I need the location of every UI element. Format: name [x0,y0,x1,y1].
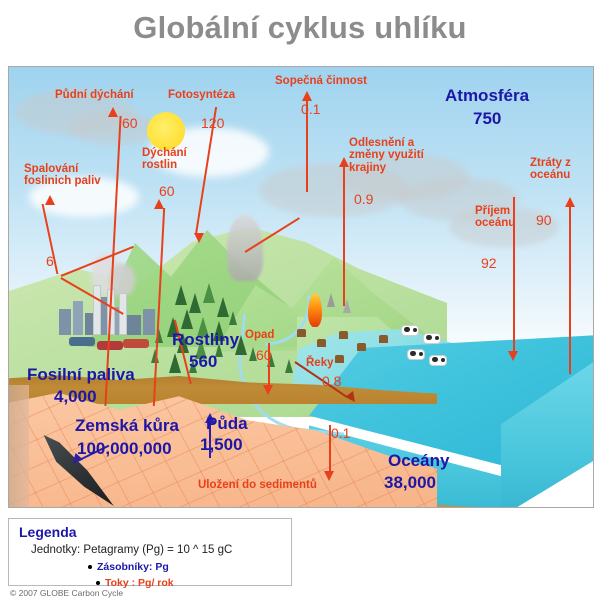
legend-entry-pools: Zásobníky: Pg [97,561,169,573]
wildfire-icon [308,293,322,327]
arrow-shaft [343,166,345,306]
label-pool-soil: Půda [206,415,248,433]
label-deforestation-line2: změny využití [349,149,424,161]
building-icon [73,301,83,335]
legend-box: Legenda Jednotky: Petagramy (Pg) = 10 ^ … [8,518,292,586]
label-deforestation-line1: Odlesnění a [349,137,424,149]
cow-icon [429,355,447,366]
value-plant-respiration: 60 [159,183,175,199]
label-pool-crust: Zemská kůra [75,417,179,435]
value-pool-plants: 560 [189,352,217,372]
value-pool-oceans: 38,000 [384,473,436,493]
tree-icon [169,353,181,373]
arrowhead-down-icon [263,385,273,395]
tree-icon [285,359,293,373]
label-fossil-burning: Spalování foslinich paliv [24,163,101,188]
value-pool-soil: 1,500 [200,435,243,455]
value-volcanic: 0.1 [301,101,320,117]
label-pool-fossil: Fosilní paliva [27,366,135,384]
value-sediment-burial: 0.1 [331,425,350,441]
building-icon [59,309,71,335]
building-icon [143,309,155,335]
label-plant-respiration-line2: rostlin [142,159,187,171]
legend-title: Legenda [19,524,77,540]
arrowhead-up-icon [45,195,55,205]
tree-icon [175,285,187,305]
label-pool-plants: Rostliny [172,331,239,349]
label-plant-respiration-line1: Dýchání [142,147,187,159]
legend-units-value: : Petagramy (Pg) = 10 ^ 15 gC [77,544,232,556]
tree-icon [217,297,229,317]
label-ocean-loss: Ztráty z oceánu [530,157,571,182]
arrowhead-down-icon [194,233,204,243]
carbon-cycle-diagram: Půdní dýchání 60 Fotosyntéza 120 Dýchání… [8,66,594,508]
label-deforestation: Odlesnění a změny využití krajiny [349,137,424,174]
label-volcanic: Sopečná činnost [275,75,367,87]
crust-left-edge [8,385,29,508]
value-pool-fossil: 4,000 [54,387,97,407]
arrow-shaft [569,206,571,374]
stump-icon [297,329,306,337]
value-rivers: 0.8 [322,373,341,389]
value-ocean-loss: 90 [536,212,552,228]
smokestack-icon [93,285,101,335]
label-soil-respiration: Půdní dýchání [55,89,134,101]
city-skyline [55,289,171,335]
arrowhead-down-icon [508,351,518,361]
value-pool-atmosphere: 750 [473,109,501,129]
label-fossil-burning-line2: foslinich paliv [24,175,101,187]
copyright-text: © 2007 GLOBE Carbon Cycle [10,588,123,598]
label-ocean-uptake-line1: Příjem [475,205,515,217]
value-ocean-uptake: 92 [481,255,497,271]
value-photosynthesis: 120 [201,115,224,131]
label-pool-oceans: Oceány [388,452,449,470]
legend-bullet-pool [88,565,92,569]
tree-icon [229,311,237,325]
label-rivers: Řeky [306,357,334,369]
value-litterfall: 60 [256,347,272,363]
arrowhead-up-icon [108,107,118,117]
label-ocean-loss-line2: oceánu [530,169,571,181]
label-plant-respiration: Dýchání rostlin [142,147,187,172]
stump-icon [335,355,344,363]
stump-icon [357,343,366,351]
sun-icon [147,112,185,150]
label-ocean-uptake: Příjem oceánu [475,205,515,230]
stump-icon [339,331,348,339]
label-ocean-loss-line1: Ztráty z [530,157,571,169]
legend-bullet-flux [96,581,100,585]
arrowhead-down-icon [324,471,334,481]
value-soil-respiration: 60 [122,115,138,131]
stump-icon [379,335,388,343]
cow-icon [401,325,419,336]
burnt-tree-icon [327,293,335,307]
value-pool-crust: 100,000,000 [77,439,172,459]
label-ocean-uptake-line2: oceánu [475,217,515,229]
page-title: Globální cyklus uhlíku [0,10,600,46]
volcano-plume [227,215,263,281]
stump-icon [317,339,326,347]
legend-units-label: Jednotky [31,544,77,556]
value-fossil-burning: 6 [46,253,54,269]
building-icon [127,315,141,335]
label-deforestation-line3: krajiny [349,162,424,174]
tree-icon [203,283,215,303]
cow-icon [423,333,441,344]
cow-icon [407,349,425,360]
label-litterfall: Opad [245,329,274,341]
value-deforestation: 0.9 [354,191,373,207]
legend-units-row: Jednotky: Petagramy (Pg) = 10 ^ 15 gC [31,544,232,556]
tree-icon [181,309,193,329]
label-fossil-burning-line1: Spalování [24,163,101,175]
label-photosynthesis: Fotosyntéza [168,89,235,101]
label-pool-atmosphere: Atmosféra [445,87,529,105]
label-sediment-burial: Uložení do sedimentů [198,479,317,491]
